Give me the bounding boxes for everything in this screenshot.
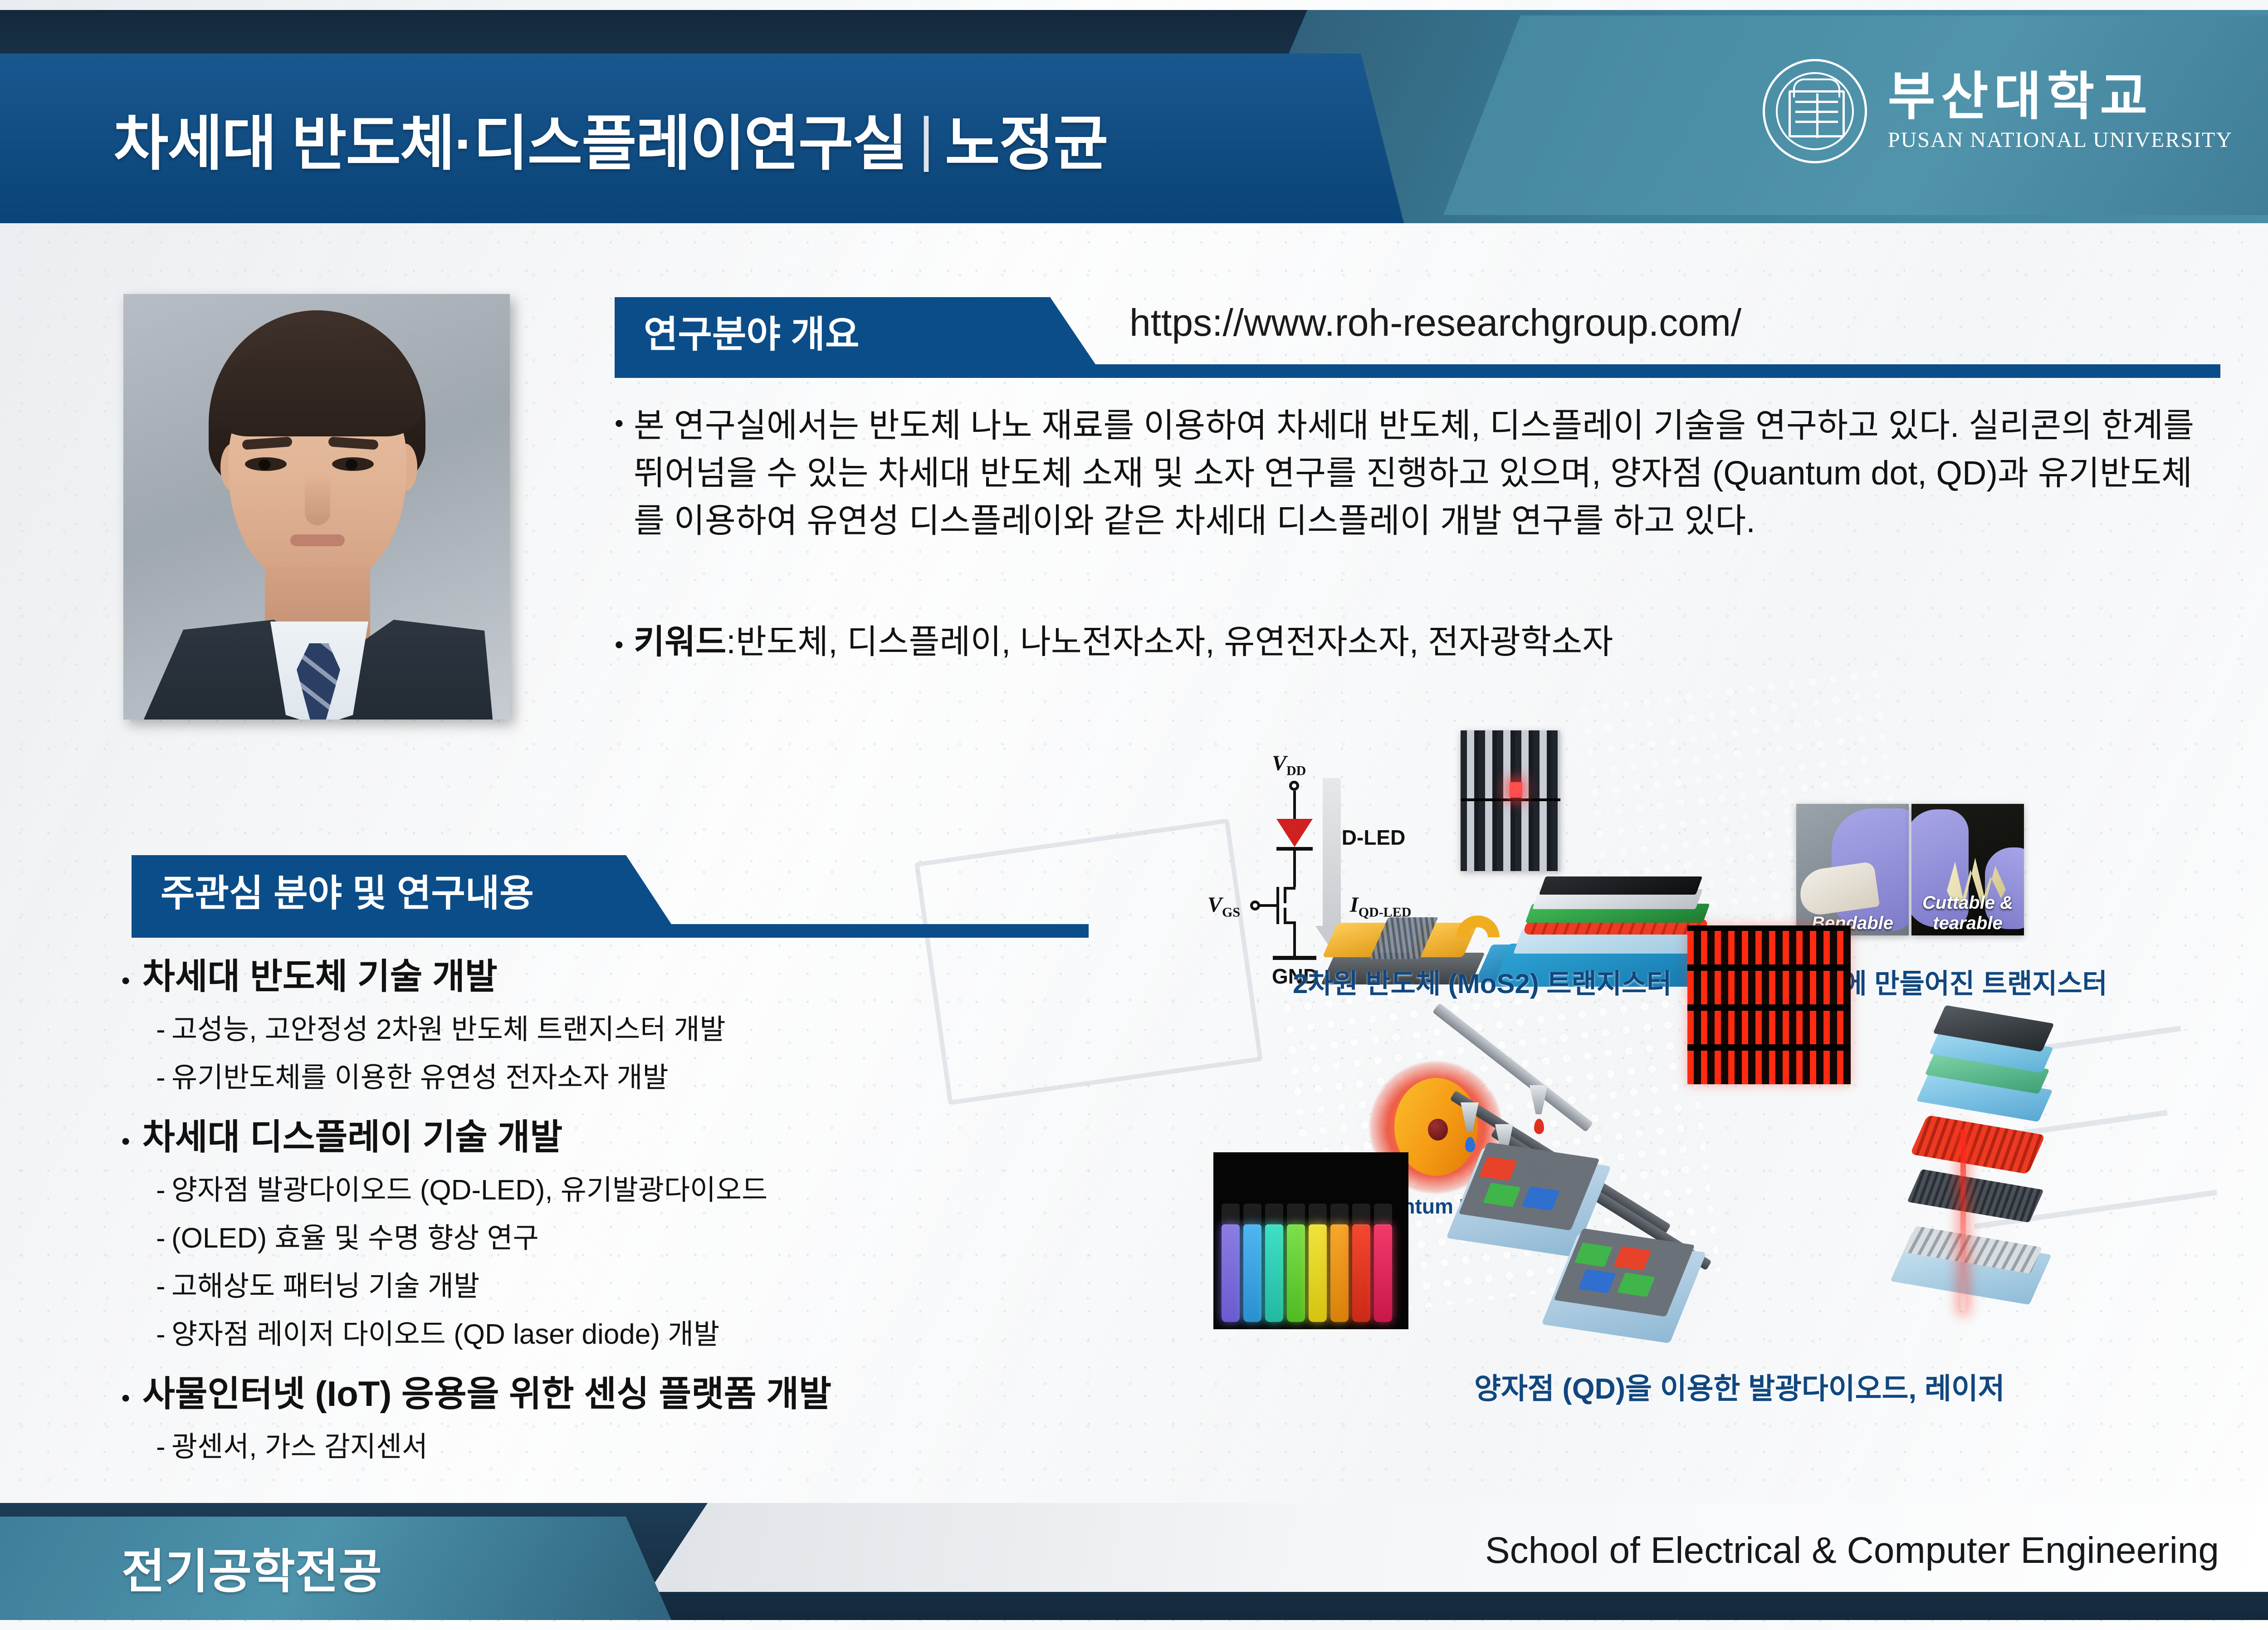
cuttable-label: Cuttable & tearable [1911,893,2024,934]
list-item: - 광센서, 가스 감지센서 [122,1424,1074,1464]
ink-droplet-red [1534,1119,1544,1134]
circuit-wire-bottom [1293,921,1296,958]
circuit-wire-top [1293,791,1296,819]
interest-group-0-title: 차세대 반도체 기술 개발 [142,948,498,999]
list-item: - 양자점 레이저 다이오드 (QD laser diode) 개발 [122,1311,1074,1352]
header-bar: 차세대 반도체·디스플레이연구실 | 노정균 부산대학교 PUSAN NATIO… [0,10,2268,223]
section-header-interests: 주관심 분야 및 연구내용 [132,855,1089,940]
interests-list: • 차세대 반도체 기술 개발 - 고성능, 고안정성 2차원 반도체 트랜지스… [122,948,1074,1464]
list-item: - 고성능, 고안정성 2차원 반도체 트랜지스터 개발 [122,1006,1074,1047]
dash-marker-icon: - [156,1062,171,1094]
circuit-label-vgs: VGS [1207,892,1240,920]
lab-title-text: 차세대 반도체·디스플레이연구실 [113,95,907,182]
title-separator: | [907,104,945,173]
cuvette-orange [1330,1224,1349,1322]
stack-electrode-layer [1539,876,1703,895]
red-pixel-array-photo [1687,925,1851,1084]
university-wordmark: 부산대학교 PUSAN NATIONAL UNIVERSITY [1888,70,2233,153]
overview-paragraph: 본 연구실에서는 반도체 나노 재료를 이용하여 차세대 반도체, 디스플레이 … [634,401,2202,544]
poster-root: 차세대 반도체·디스플레이연구실 | 노정균 부산대학교 PUSAN NATIO… [0,0,2268,1630]
ink-droplet-blue [1465,1137,1475,1152]
photo-eye-left [245,457,287,471]
inkjet-nozzle-1 [1461,1102,1479,1131]
professor-name: 노정균 [945,95,1107,182]
page-title: 차세대 반도체·디스플레이연구실 | 노정균 [113,54,1107,223]
qd-laser-diode-illustration [1842,989,2096,1325]
caption-mos2-transistor: 2차원 반도체 (MoS2) 트랜지스터 [1293,962,1672,1001]
university-name-ko: 부산대학교 [1888,70,2233,124]
interest-group-title: • 차세대 반도체 기술 개발 [122,948,1074,999]
cuvette-blue [1243,1224,1261,1322]
dash-marker-icon: - [156,1222,171,1254]
university-seal-icon [1763,59,1867,163]
dash-marker-icon: - [156,1013,171,1046]
photo-nose [305,475,330,525]
department-name-en: School of Electrical & Computer Engineer… [1485,1517,2219,1585]
transistor-gate-wire [1259,904,1277,907]
cuvette-red [1352,1224,1370,1322]
qd-cuvettes-photo [1213,1152,1408,1329]
dash-marker-icon: - [156,1270,171,1302]
bullet-marker-icon: • [615,401,634,445]
transistor-drain-wire [1284,887,1295,890]
cuvette-magenta [1374,1224,1392,1322]
ground-bar-icon [1273,956,1316,960]
interests-section-title: 주관심 분야 및 연구내용 [132,855,671,924]
keyword-label: 키워드 [634,615,726,663]
interest-group-2-item-0: 광센서, 가스 감지센서 [171,1424,428,1464]
laser-qd-gain-layer [1910,1115,2046,1174]
professor-photo [123,294,510,720]
keyword-row: • 키워드 : 반도체, 디스플레이, 나노전자소자, 유연전자소자, 전자광학… [615,615,2157,663]
laser-dbr-lower [1907,1169,2044,1223]
circuit-node-vdd [1289,781,1299,791]
cuttable-device-photo: Cuttable & tearable [1911,804,2024,935]
led-emission-photo [1461,730,1560,871]
interest-group-2-title: 사물인터넷 (IoT) 응용을 위한 센싱 플랫폼 개발 [142,1366,831,1416]
interest-group-1-item-2: 고해상도 패터닝 기술 개발 [171,1263,479,1304]
bullet-marker-icon: • [122,1385,142,1412]
printer-rail-1 [1432,1003,1593,1132]
university-logo: 부산대학교 PUSAN NATIONAL UNIVERSITY [1763,59,2233,163]
figure-panel: VDD QD-LED VGS GND IQD-LED [1188,726,2268,1456]
cuvette-cyan [1265,1224,1283,1322]
department-name-ko: 전기공학전공 [122,1524,382,1610]
circuit-diode-bar [1276,847,1313,851]
interests-underline [132,924,1089,938]
bullet-marker-icon: • [122,1128,142,1155]
overview-underline [615,364,2220,378]
cuvette-green [1287,1224,1305,1322]
cuvette-violet [1222,1224,1240,1322]
circuit-node-vgs [1250,901,1260,910]
dash-marker-icon: - [156,1431,171,1463]
interest-group-1-title: 차세대 디스플레이 기술 개발 [142,1109,562,1160]
keyword-bullet-icon: • [615,630,634,659]
bullet-marker-icon: • [122,967,142,994]
interest-group-1-item-1: (OLED) 효율 및 수명 향상 연구 [171,1215,539,1256]
footer-bar: 전기공학전공 School of Electrical & Computer E… [0,1503,2268,1620]
cuvette-yellow [1309,1224,1327,1322]
diode-icon [1276,819,1313,847]
laser-beam [1960,1130,1966,1311]
circuit-wire-mid [1293,851,1296,887]
dash-marker-icon: - [156,1174,171,1206]
list-item: - (OLED) 효율 및 수명 향상 연구 [122,1215,1074,1256]
bendable-device-photo: Bendable [1796,804,1909,935]
photo-eye-right [332,457,374,471]
caption-qd-led-laser: 양자점 (QD)을 이용한 발광다이오드, 레이저 [1474,1366,2005,1407]
interest-group-title: • 차세대 디스플레이 기술 개발 [122,1109,1074,1160]
list-item: - 고해상도 패터닝 기술 개발 [122,1263,1074,1304]
list-item: - 양자점 발광다이오드 (QD-LED), 유기발광다이오드 [122,1167,1074,1208]
dash-marker-icon: - [156,1318,171,1351]
seal-book-shape [1789,90,1845,137]
overview-body: • 본 연구실에서는 반도체 나노 재료를 이용하여 차세대 반도체, 디스플레… [615,401,2202,544]
interest-group-0-item-0: 고성능, 고안정성 2차원 반도체 트랜지스터 개발 [171,1006,726,1047]
keyword-separator: : [726,622,736,661]
photo-mouth [290,534,345,546]
inkjet-printed-display-illustration [1406,1043,1751,1334]
interest-group-1-item-3: 양자점 레이저 다이오드 (QD laser diode) 개발 [171,1311,719,1352]
list-item: - 유기반도체를 이용한 유연성 전자소자 개발 [122,1054,1074,1095]
keyword-values: 반도체, 디스플레이, 나노전자소자, 유연전자소자, 전자광학소자 [736,615,1613,663]
interest-group-0-item-1: 유기반도체를 이용한 유연성 전자소자 개발 [171,1054,669,1095]
overview-paragraph-row: • 본 연구실에서는 반도체 나노 재료를 이용하여 차세대 반도체, 디스플레… [615,401,2202,544]
interest-group-1-item-0: 양자점 발광다이오드 (QD-LED), 유기발광다이오드 [171,1167,767,1208]
overview-section-title: 연구분야 개요 [615,297,1095,364]
interest-group-title: • 사물인터넷 (IoT) 응용을 위한 센싱 플랫폼 개발 [122,1366,1074,1416]
circuit-label-vdd: VDD [1272,751,1306,779]
lab-website-url[interactable]: https://www.roh-researchgroup.com/ [1129,301,1741,345]
university-name-en: PUSAN NATIONAL UNIVERSITY [1888,127,2233,152]
